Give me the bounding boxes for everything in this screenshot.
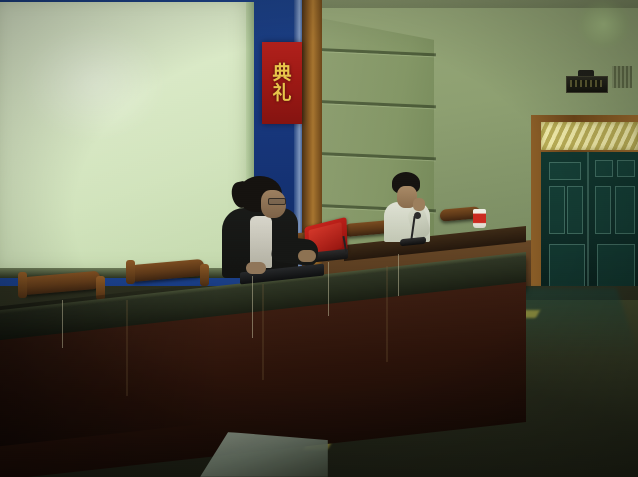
- door-center-seam: [587, 152, 589, 300]
- table-panel-seam: [126, 300, 128, 396]
- door-panel-lite: [567, 186, 583, 234]
- lens-flare: [578, 0, 630, 48]
- door-panel-lite: [617, 160, 635, 177]
- chair-post: [126, 260, 135, 284]
- projection-screen: [0, 2, 252, 274]
- door-panel-lite: [595, 160, 613, 177]
- photo-scene: 典 礼: [0, 0, 638, 477]
- chair-post: [18, 272, 27, 298]
- banner-character-1: 典: [272, 64, 291, 83]
- microphone-head[interactable]: [414, 212, 421, 219]
- wall-vent: [612, 66, 632, 88]
- cable: [328, 262, 329, 316]
- head-table-shadow: [0, 282, 220, 447]
- paper-cup[interactable]: [473, 209, 486, 228]
- door-transom-window: [541, 122, 638, 150]
- person-front-hand: [298, 250, 316, 262]
- table-panel-seam: [386, 266, 388, 362]
- cable: [62, 300, 63, 348]
- banner-character-2: 礼: [272, 84, 291, 103]
- cable: [252, 276, 253, 338]
- door-panel-lite: [549, 186, 565, 234]
- red-vertical-banner: 典 礼: [262, 42, 302, 124]
- cable: [398, 254, 399, 296]
- screen-glow: [18, 22, 168, 142]
- person-front-shirt: [250, 216, 272, 268]
- wall-display-mount: [578, 70, 594, 76]
- person-front-hand-left: [246, 262, 266, 274]
- door-panel-lite: [595, 186, 611, 234]
- wall-display-dots: [570, 80, 602, 87]
- door-panel-lite: [549, 162, 581, 180]
- glasses-icon: [268, 198, 286, 205]
- double-door[interactable]: [541, 152, 638, 300]
- person-back-hand: [413, 198, 425, 211]
- table-panel-seam: [262, 284, 264, 380]
- door-panel-lite: [615, 186, 635, 234]
